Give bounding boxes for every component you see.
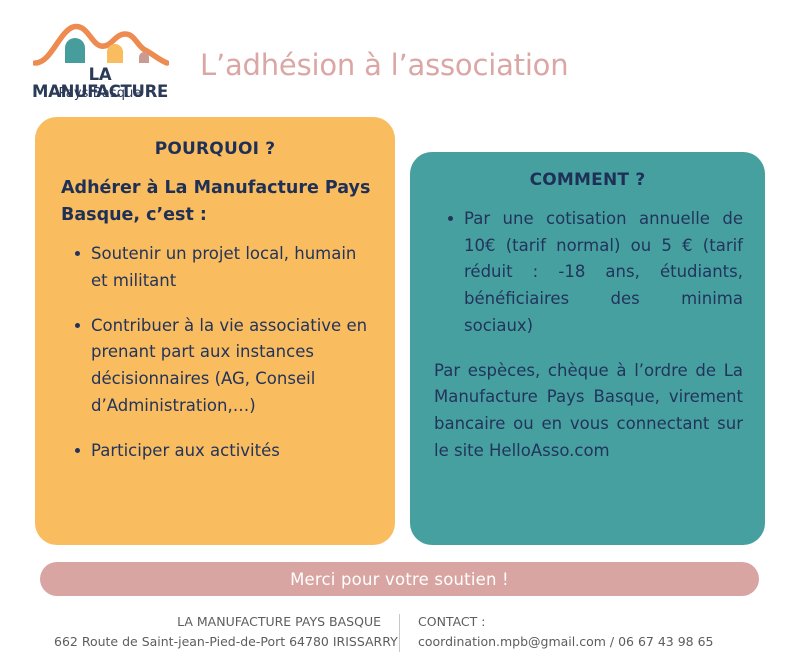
footer-address: 662 Route de Saint-jean-Pied-de-Port 647… [54, 632, 381, 652]
list-item: Soutenir un projet local, humain et mili… [75, 241, 371, 294]
footer-org-name: LA MANUFACTURE PAYS BASQUE [54, 612, 381, 632]
list-item: Contribuer à la vie associative en prena… [75, 313, 371, 420]
page-footer: LA MANUFACTURE PAYS BASQUE 662 Route de … [0, 612, 799, 670]
card-pourquoi-bullet-list: Soutenir un projet local, humain et mili… [57, 241, 373, 464]
brand-logo: LA MANUFACTURE Pays Basque [25, 22, 175, 104]
card-comment-heading: COMMENT ? [430, 170, 745, 190]
footer-address-block: LA MANUFACTURE PAYS BASQUE 662 Route de … [54, 612, 399, 653]
mountain-houses-logo-icon [33, 22, 169, 66]
card-comment-bullet-list: Par une cotisation annuelle de 10€ (tari… [430, 206, 745, 340]
footer-contact-block: CONTACT : coordination.mpb@gmail.com / 0… [400, 612, 745, 653]
page-header: LA MANUFACTURE Pays Basque L’adhésion à … [0, 0, 799, 110]
footer-contact-label: CONTACT : [418, 612, 745, 632]
thanks-banner: Merci pour votre soutien ! [40, 562, 759, 596]
card-pourquoi: POURQUOI ? Adhérer à La Manufacture Pays… [35, 117, 395, 545]
card-pourquoi-heading: POURQUOI ? [57, 139, 373, 159]
thanks-banner-text: Merci pour votre soutien ! [290, 570, 509, 589]
card-comment: COMMENT ? Par une cotisation annuelle de… [410, 152, 765, 545]
card-pourquoi-subheading: Adhérer à La Manufacture Pays Basque, c’… [57, 175, 373, 229]
list-item: Participer aux activités [75, 438, 371, 465]
list-item: Par une cotisation annuelle de 10€ (tari… [448, 206, 743, 340]
footer-contact-details: coordination.mpb@gmail.com / 06 67 43 98… [418, 632, 745, 652]
card-comment-paragraph: Par espèces, chèque à l’ordre de La Manu… [430, 358, 745, 465]
page-title: L’adhésion à l’association [200, 48, 568, 82]
logo-subtitle: Pays Basque [25, 86, 175, 101]
